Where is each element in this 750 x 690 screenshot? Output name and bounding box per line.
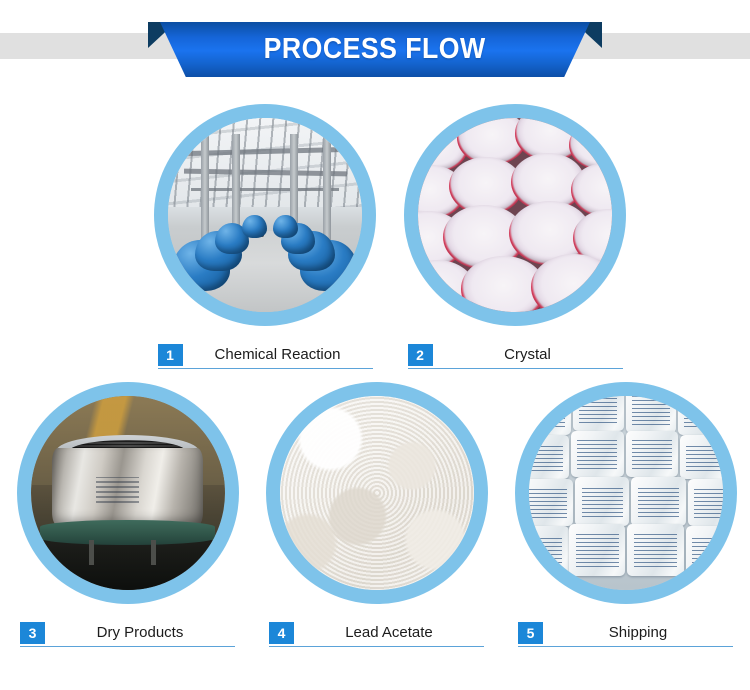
- step-1-label: Chemical Reaction: [183, 346, 373, 365]
- ribbon-banner: PROCESS FLOW: [160, 22, 590, 77]
- process-step-4[interactable]: 4 Lead Acetate: [252, 382, 501, 647]
- step-1-number-badge: 1: [158, 344, 183, 366]
- step-2-circle-frame: [404, 104, 626, 326]
- step-5-number-badge: 5: [518, 622, 543, 644]
- page-title: PROCESS FLOW: [264, 33, 486, 66]
- dry-products-photo: [31, 396, 225, 590]
- process-step-1[interactable]: 1 Chemical Reaction: [140, 104, 390, 369]
- crystal-photo: [418, 118, 612, 312]
- chemical-reaction-photo: [168, 118, 362, 312]
- step-3-caption: 3 Dry Products: [20, 620, 235, 647]
- step-4-label: Lead Acetate: [294, 624, 484, 643]
- process-step-3[interactable]: 3 Dry Products: [3, 382, 252, 647]
- step-4-number-badge: 4: [269, 622, 294, 644]
- step-4-circle-frame: [266, 382, 488, 604]
- step-4-caption: 4 Lead Acetate: [269, 620, 484, 647]
- step-3-label: Dry Products: [45, 624, 235, 643]
- page-header: PROCESS FLOW: [0, 0, 750, 92]
- process-row-bottom: 3 Dry Products 4 Lead Acetate: [0, 382, 750, 647]
- lead-acetate-photo: [280, 396, 474, 590]
- step-3-number-badge: 3: [20, 622, 45, 644]
- step-2-caption: 2 Crystal: [408, 342, 623, 369]
- process-step-5[interactable]: 5 Shipping: [501, 382, 750, 647]
- step-1-caption: 1 Chemical Reaction: [158, 342, 373, 369]
- step-5-circle-frame: [515, 382, 737, 604]
- step-2-label: Crystal: [433, 346, 623, 365]
- step-2-number-badge: 2: [408, 344, 433, 366]
- step-5-label: Shipping: [543, 624, 733, 643]
- shipping-photo: [529, 396, 723, 590]
- step-3-circle-frame: [17, 382, 239, 604]
- process-row-top: 1 Chemical Reaction: [0, 104, 750, 369]
- step-1-circle-frame: [154, 104, 376, 326]
- process-step-2[interactable]: 2 Crystal: [390, 104, 640, 369]
- step-5-caption: 5 Shipping: [518, 620, 733, 647]
